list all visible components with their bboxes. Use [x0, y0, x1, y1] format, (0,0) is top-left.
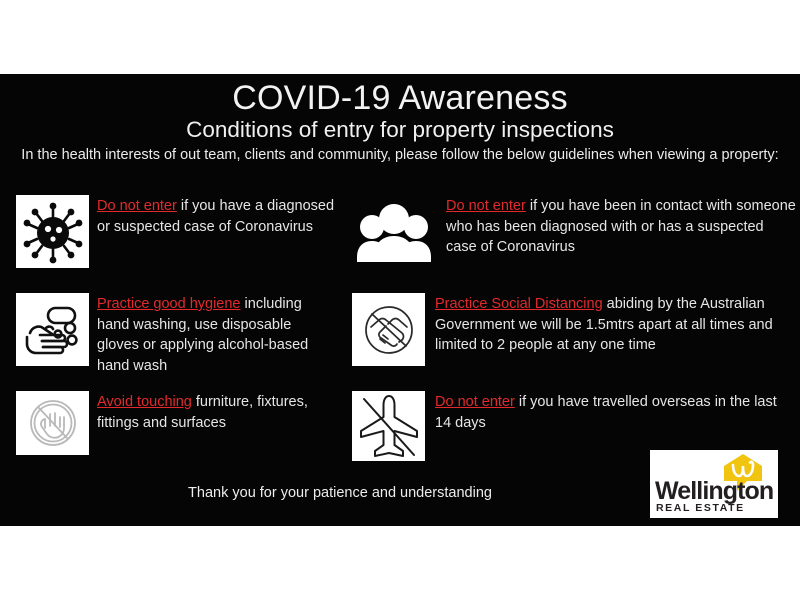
intro-text: In the health interests of out team, cli…: [18, 145, 782, 166]
logo-name: Wellington: [655, 478, 773, 504]
guideline-item: Avoid touching furniture, fixtures, fitt…: [16, 391, 335, 455]
poster: COVID-19 Awareness Conditions of entry f…: [0, 0, 800, 600]
guideline-text: Practice Social Distancing abiding by th…: [435, 293, 785, 356]
hand-washing-icon: [16, 293, 89, 366]
guideline-item: Do not enter if you have a diagnosed or …: [16, 195, 335, 268]
thank-you-text: Thank you for your patience and understa…: [60, 483, 620, 503]
poster-banner: COVID-19 Awareness Conditions of entry f…: [0, 74, 800, 526]
guideline-text: Do not enter if you have been in contact…: [446, 195, 796, 258]
coronavirus-icon: [16, 195, 89, 268]
wellington-real-estate-logo: Wellington REAL ESTATE: [650, 450, 778, 518]
guideline-lead: Practice good hygiene: [97, 296, 241, 312]
no-handshake-icon: [352, 293, 425, 366]
guideline-text: Do not enter if you have a diagnosed or …: [97, 195, 335, 237]
guideline-item: Do not enter if you have been in contact…: [352, 195, 796, 268]
guideline-text: Practice good hygiene including hand was…: [97, 293, 335, 376]
group-of-people-icon: [352, 195, 436, 268]
guideline-lead: Avoid touching: [97, 394, 192, 410]
no-air-travel-icon: [352, 391, 425, 461]
no-touching-icon: [16, 391, 89, 455]
guideline-item: Practice good hygiene including hand was…: [16, 293, 335, 376]
logo-tagline: REAL ESTATE: [656, 502, 745, 514]
guideline-item: Practice Social Distancing abiding by th…: [352, 293, 785, 366]
page-subtitle: Conditions of entry for property inspect…: [0, 117, 800, 143]
page-title: COVID-19 Awareness: [0, 78, 800, 118]
guideline-text: Avoid touching furniture, fixtures, fitt…: [97, 391, 335, 433]
guideline-lead: Do not enter: [446, 198, 526, 214]
guideline-lead: Do not enter: [97, 198, 177, 214]
guideline-text: Do not enter if you have travelled overs…: [435, 391, 785, 433]
guideline-lead: Practice Social Distancing: [435, 296, 603, 312]
guideline-lead: Do not enter: [435, 394, 515, 410]
